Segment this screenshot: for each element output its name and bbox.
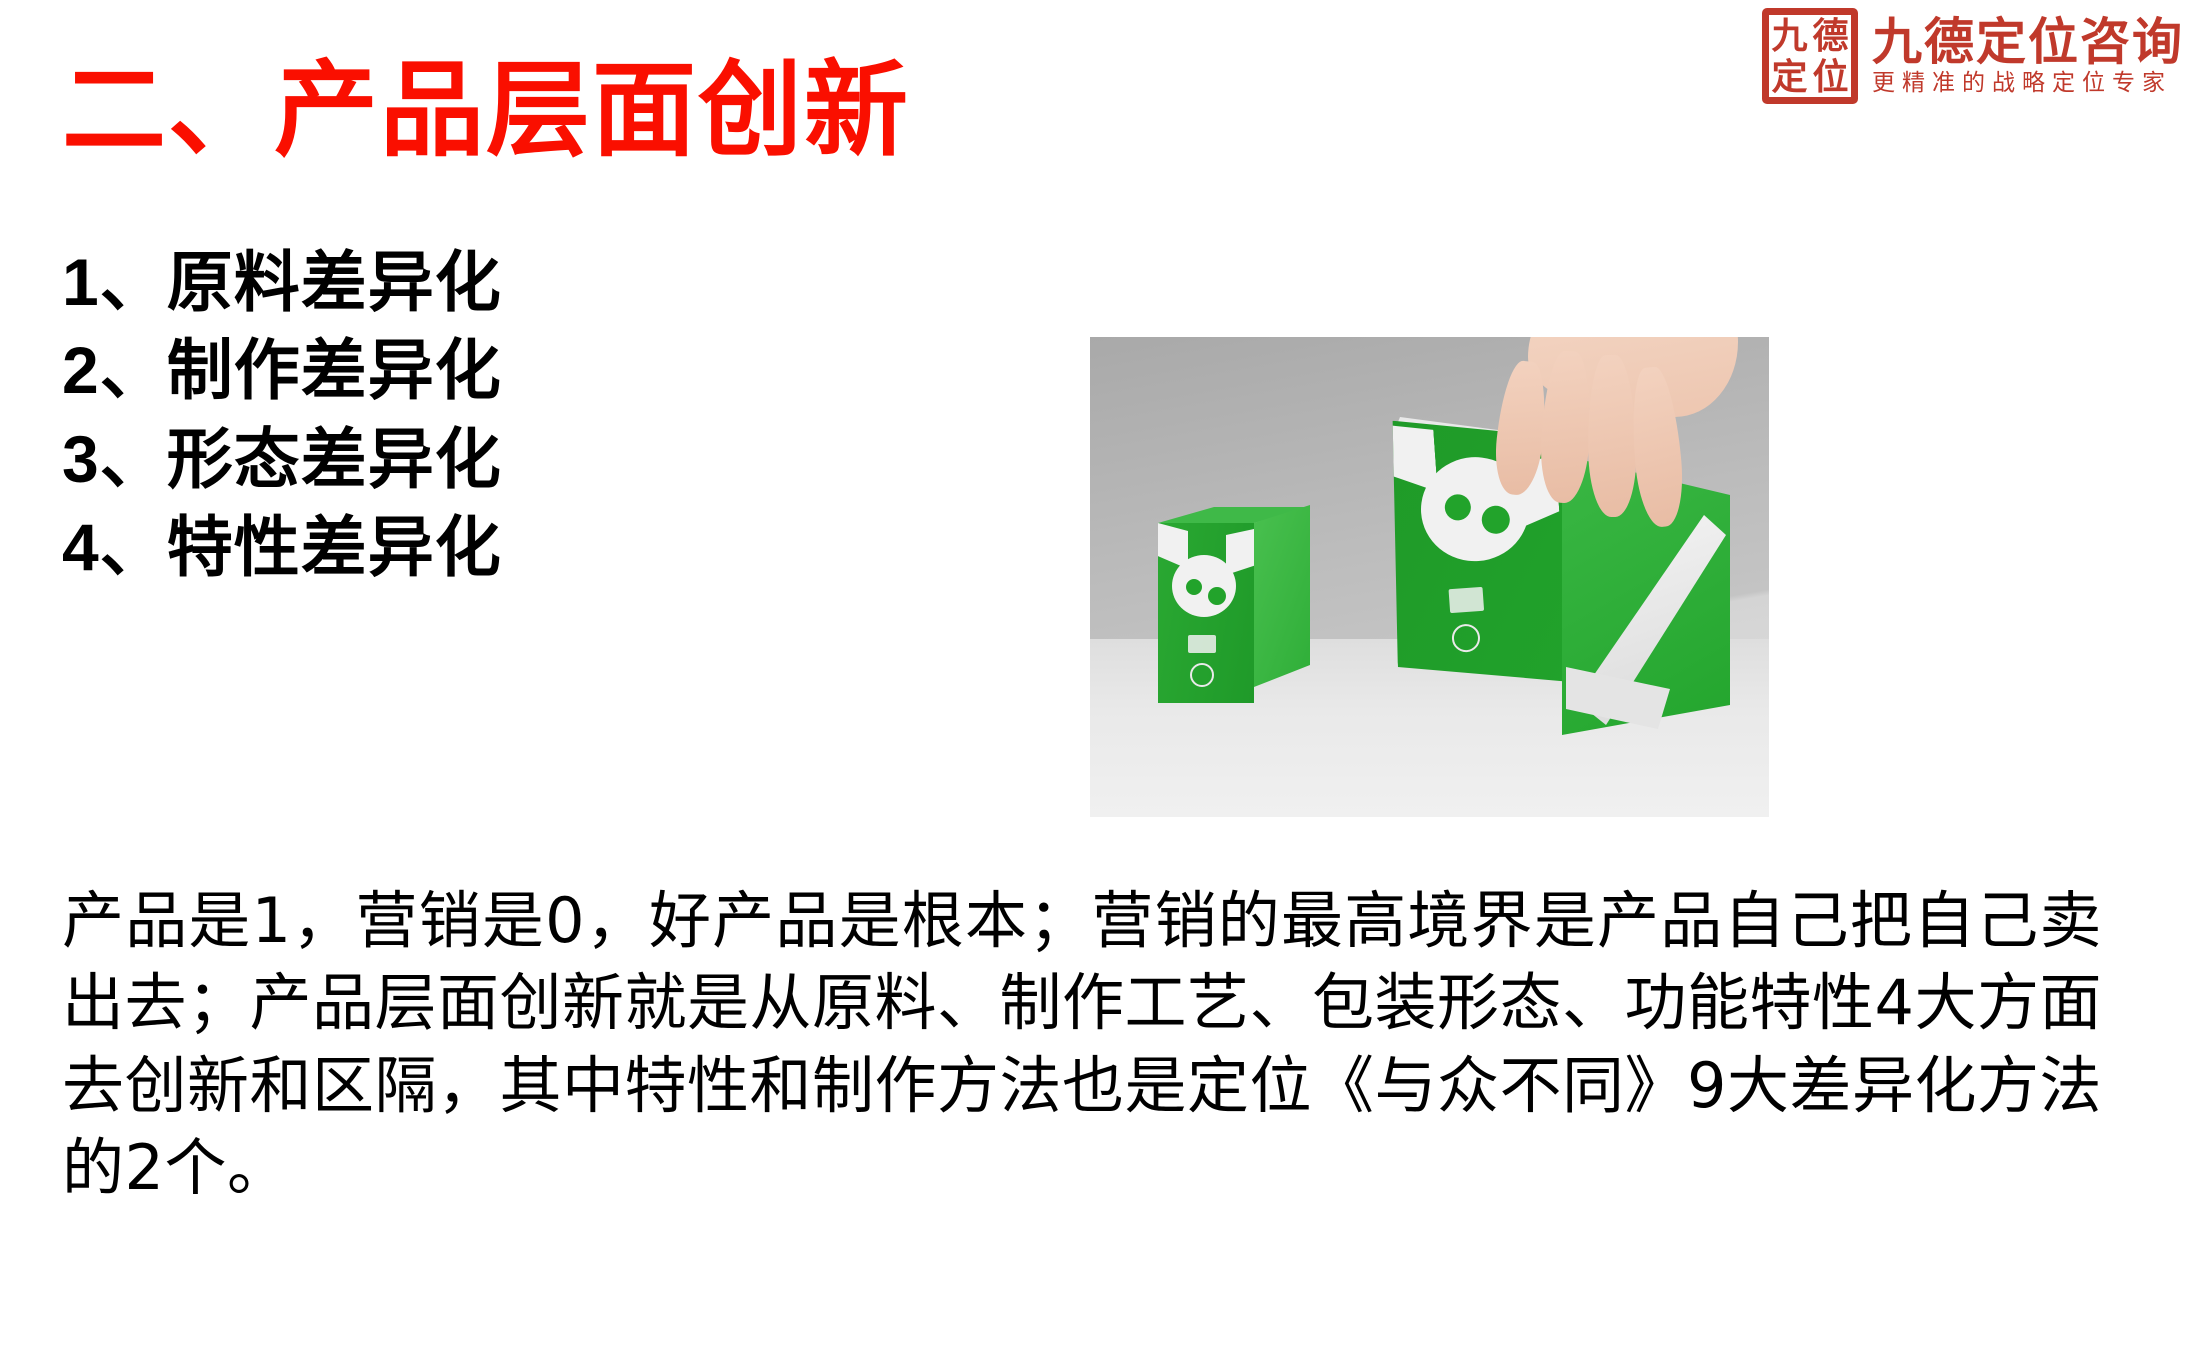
panda-eye-right-icon [1208,587,1226,605]
panda-face-icon [1172,555,1236,617]
brand-logo: 九 德 定 位 九德定位咨询 更精准的战略定位专家 [1762,8,2184,104]
package-label-icon [1188,635,1216,653]
seal-stamp-icon: 九 德 定 位 [1762,8,1858,104]
package-mark-icon [1190,663,1214,687]
list-item: 1、原料差异化 [62,238,702,326]
brand-name: 九德定位咨询 [1872,16,2184,69]
list-item: 3、形态差异化 [62,415,702,503]
seal-char-2: 德 [1810,15,1851,56]
list-item: 4、特性差异化 [62,503,702,591]
hand-icon [1488,337,1738,547]
small-package-box [1158,507,1308,703]
body-paragraph: 产品是1，营销是0，好产品是根本；营销的最高境界是产品自己把自己卖出去；产品层面… [62,880,2102,1210]
brand-text-block: 九德定位咨询 更精准的战略定位专家 [1872,16,2184,96]
small-box-front-face [1158,523,1254,703]
package-mark-icon [1451,623,1481,653]
seal-char-1: 九 [1769,15,1810,56]
list-item: 2、制作差异化 [62,326,702,414]
panda-eye-left-icon [1186,579,1202,595]
differentiation-list: 1、原料差异化 2、制作差异化 3、形态差异化 4、特性差异化 [62,238,702,592]
product-packaging-photo [1090,337,1769,817]
seal-char-4: 位 [1810,56,1851,97]
small-box-side-face [1254,505,1310,687]
package-label-icon [1449,587,1485,613]
slide-canvas: 九 德 定 位 九德定位咨询 更精准的战略定位专家 二、产品层面创新 1、原料差… [0,0,2202,1348]
seal-char-3: 定 [1769,56,1810,97]
brand-tagline: 更精准的战略定位专家 [1872,71,2184,96]
page-title: 二、产品层面创新 [62,52,910,172]
